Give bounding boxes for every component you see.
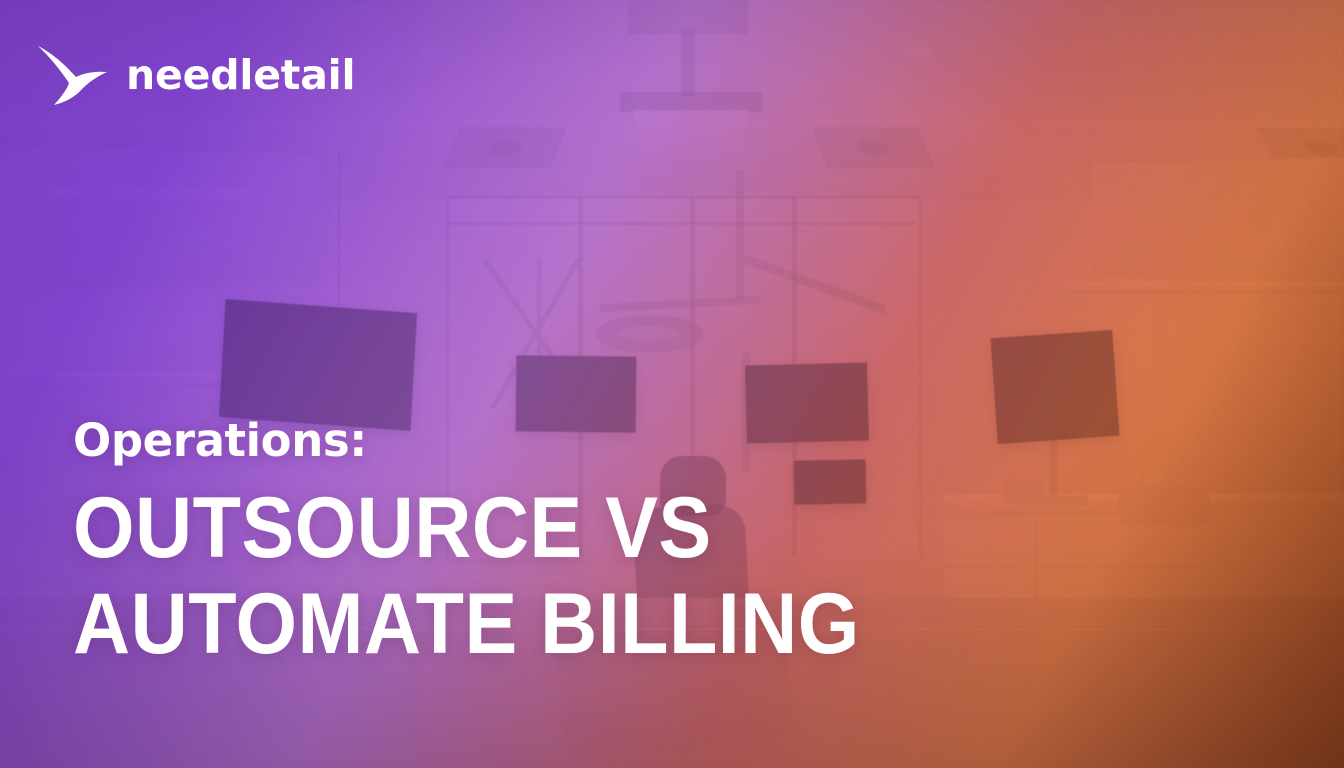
hero-banner: needletail Operations: OUTSOURCE VS AUTO… <box>0 0 1344 768</box>
brand-name: needletail <box>126 55 355 96</box>
page-title: OUTSOURCE VS AUTOMATE BILLING <box>73 480 1085 673</box>
hero-text-block: Operations: OUTSOURCE VS AUTOMATE BILLIN… <box>73 418 1173 673</box>
title-line-2: AUTOMATE BILLING <box>73 576 1085 672</box>
title-line-1: OUTSOURCE VS <box>73 480 1085 576</box>
hero-eyebrow: Operations: <box>73 418 1173 464</box>
brand-logo[interactable]: needletail <box>36 44 355 106</box>
swift-bird-icon <box>36 44 112 106</box>
